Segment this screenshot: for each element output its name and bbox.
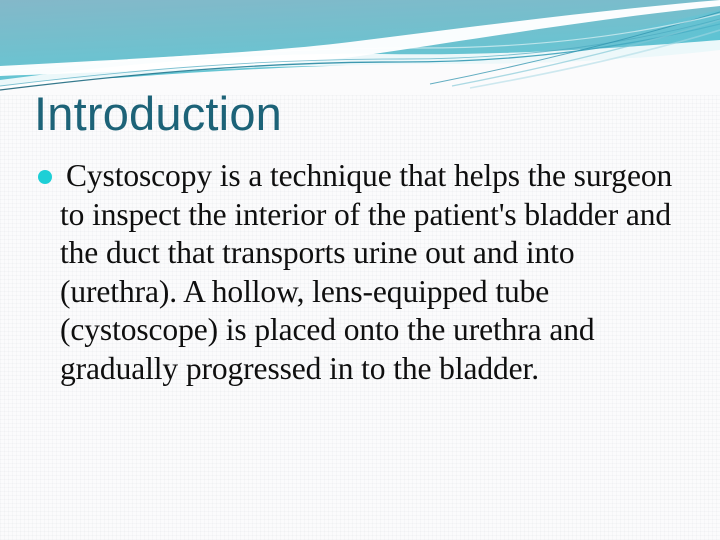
bullet-item-text: Cystoscopy is a technique that helps the…: [60, 157, 686, 388]
bullet-dot-icon: [38, 170, 52, 184]
page-title: Introduction: [34, 88, 282, 141]
body-placeholder[interactable]: Cystoscopy is a technique that helps the…: [38, 157, 686, 388]
wave-header-decoration: [0, 0, 720, 95]
bullet-list-item: Cystoscopy is a technique that helps the…: [38, 157, 686, 388]
title-placeholder[interactable]: Introduction: [34, 88, 282, 141]
presentation-slide: Introduction Cystoscopy is a technique t…: [0, 0, 720, 540]
